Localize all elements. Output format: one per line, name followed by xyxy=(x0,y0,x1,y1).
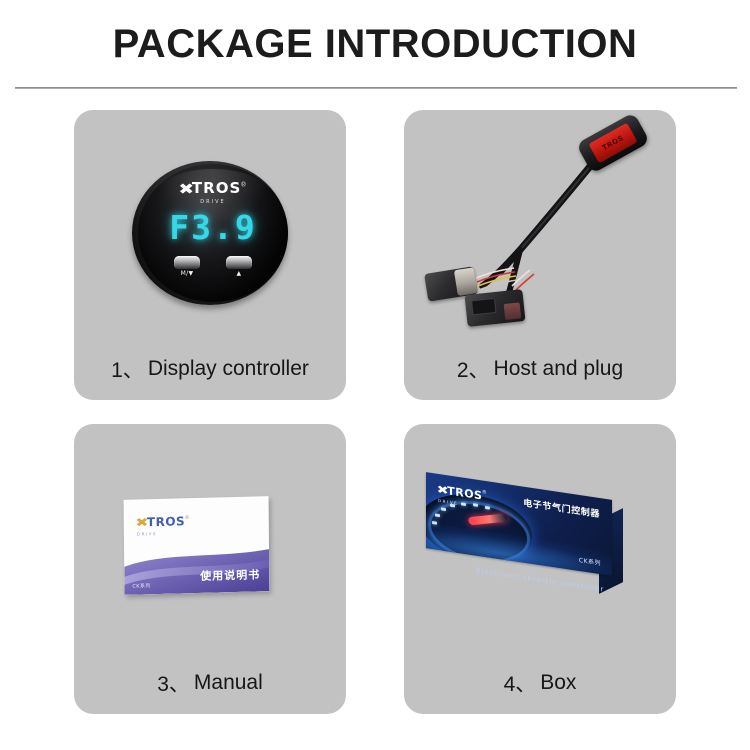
manual-brand-star-icon: ✖ xyxy=(135,516,148,528)
header-divider xyxy=(15,87,737,89)
manual-brand-name: TROS xyxy=(147,514,185,529)
box-title-cn: 电子节气门控制器 xyxy=(523,496,600,520)
connector-secondary xyxy=(464,289,525,327)
brand-subtitle: DRIVE xyxy=(138,199,288,205)
mode-down-button[interactable]: M/▼ xyxy=(172,256,202,277)
manual-image: ✖TROS® DRIVE xyxy=(74,424,346,652)
host-and-plug-image: TROS xyxy=(404,110,676,338)
controller-brand-logo: ✖TROS® DRIVE xyxy=(138,180,288,205)
host-and-plug-device: TROS xyxy=(404,110,676,338)
package-item-caption-1: 1、 Display controller xyxy=(74,338,346,400)
up-button[interactable]: ▲ xyxy=(224,256,254,277)
mode-down-button-label: M/▼ xyxy=(172,271,202,277)
manual-brand-subtitle: DRIVE xyxy=(137,531,189,536)
box-brand-registered-mark: ® xyxy=(482,489,486,496)
display-controller-image: ✖TROS® DRIVE F3.9 M/▼ xyxy=(74,110,346,338)
display-controller-device: ✖TROS® DRIVE F3.9 M/▼ xyxy=(128,149,292,309)
item-label-1: Display controller xyxy=(148,357,309,381)
manual-device: ✖TROS® DRIVE xyxy=(74,424,346,652)
package-item-card-2[interactable]: TROS 2、 Host and plug xyxy=(404,110,676,400)
package-introduction-page: PACKAGE INTRODUCTION ✖TROS® DRIVE F3.9 xyxy=(0,0,750,750)
package-item-caption-3: 3、 Manual xyxy=(74,652,346,714)
page-title: PACKAGE INTRODUCTION xyxy=(113,22,638,67)
brand-registered-mark: ® xyxy=(241,182,245,188)
host-brand-mark: TROS xyxy=(601,134,625,152)
brand-name: TROS xyxy=(192,181,241,196)
item-number-1: 1、 xyxy=(111,354,144,384)
package-items-grid: ✖TROS® DRIVE F3.9 M/▼ xyxy=(74,110,676,714)
brand-star-icon: ✖ xyxy=(179,182,195,197)
controller-body: ✖TROS® DRIVE F3.9 M/▼ xyxy=(132,161,288,305)
up-button-cap xyxy=(226,256,252,269)
package-item-card-4[interactable]: Electronic throttle controller xyxy=(404,424,676,714)
item-number-4: 4、 xyxy=(504,668,537,698)
item-number-3: 3、 xyxy=(157,668,190,698)
led-readout: F3.9 xyxy=(138,208,288,247)
item-label-3: Manual xyxy=(194,671,263,695)
item-label-4: Box xyxy=(540,671,576,695)
connector-primary-head xyxy=(454,267,478,296)
box-device: Electronic throttle controller xyxy=(404,424,676,652)
page-header: PACKAGE INTRODUCTION xyxy=(0,0,750,88)
mode-down-button-cap xyxy=(174,256,200,269)
connector-secondary-tab xyxy=(504,302,522,320)
package-item-card-1[interactable]: ✖TROS® DRIVE F3.9 M/▼ xyxy=(74,110,346,400)
manual-title-cn: 使用说明书 xyxy=(200,566,260,584)
item-number-2: 2、 xyxy=(457,354,490,384)
box-image: Electronic throttle controller xyxy=(404,424,676,652)
connector-secondary-slot xyxy=(471,298,496,315)
manual-series-code: CK系列 xyxy=(132,582,150,589)
manual-booklet: ✖TROS® DRIVE xyxy=(124,496,270,595)
package-item-card-3[interactable]: ✖TROS® DRIVE xyxy=(74,424,346,714)
box-brand-star-icon: ✖ xyxy=(437,485,449,498)
manual-brand-logo: ✖TROS® DRIVE xyxy=(137,513,189,536)
package-item-caption-4: 4、 Box xyxy=(404,652,676,714)
controller-face: ✖TROS® DRIVE F3.9 M/▼ xyxy=(138,164,288,302)
item-label-2: Host and plug xyxy=(494,357,624,381)
manual-brand-registered-mark: ® xyxy=(185,515,189,521)
up-button-label: ▲ xyxy=(224,271,254,277)
controller-buttons: M/▼ ▲ xyxy=(138,256,288,277)
package-item-caption-2: 2、 Host and plug xyxy=(404,338,676,400)
